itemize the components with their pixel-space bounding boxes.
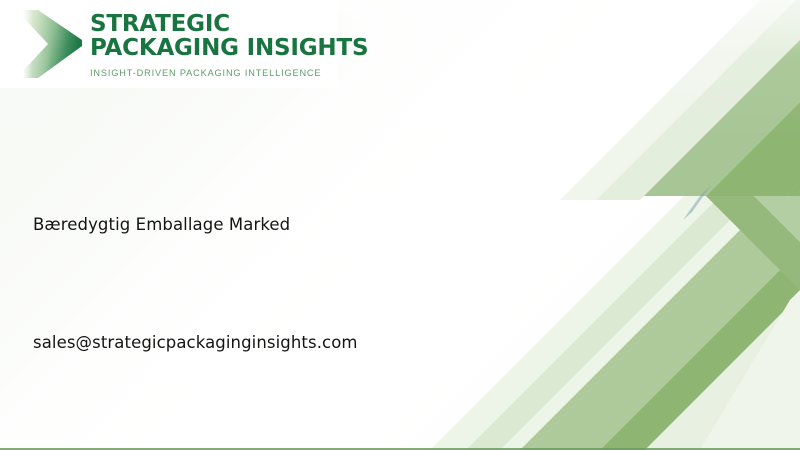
chevron-left-fade [22,6,52,82]
brand-logo: STRATEGIC PACKAGING INSIGHTS INSIGHT-DRI… [0,0,338,88]
slide-canvas: STRATEGIC PACKAGING INSIGHTS INSIGHT-DRI… [0,0,800,450]
brand-name-line-1: STRATEGIC [90,12,368,36]
brand-name-line-2: PACKAGING INSIGHTS [90,36,368,60]
brand-wordmark: STRATEGIC PACKAGING INSIGHTS INSIGHT-DRI… [90,10,368,79]
chevron-arrow-icon [22,6,84,82]
contact-email[interactable]: sales@strategicpackaginginsights.com [33,333,358,352]
report-title: Bæredygtig Emballage Marked [33,215,290,234]
brand-tagline: INSIGHT-DRIVEN PACKAGING INTELLIGENCE [90,67,368,79]
chevron-arrow-svg [22,6,84,82]
